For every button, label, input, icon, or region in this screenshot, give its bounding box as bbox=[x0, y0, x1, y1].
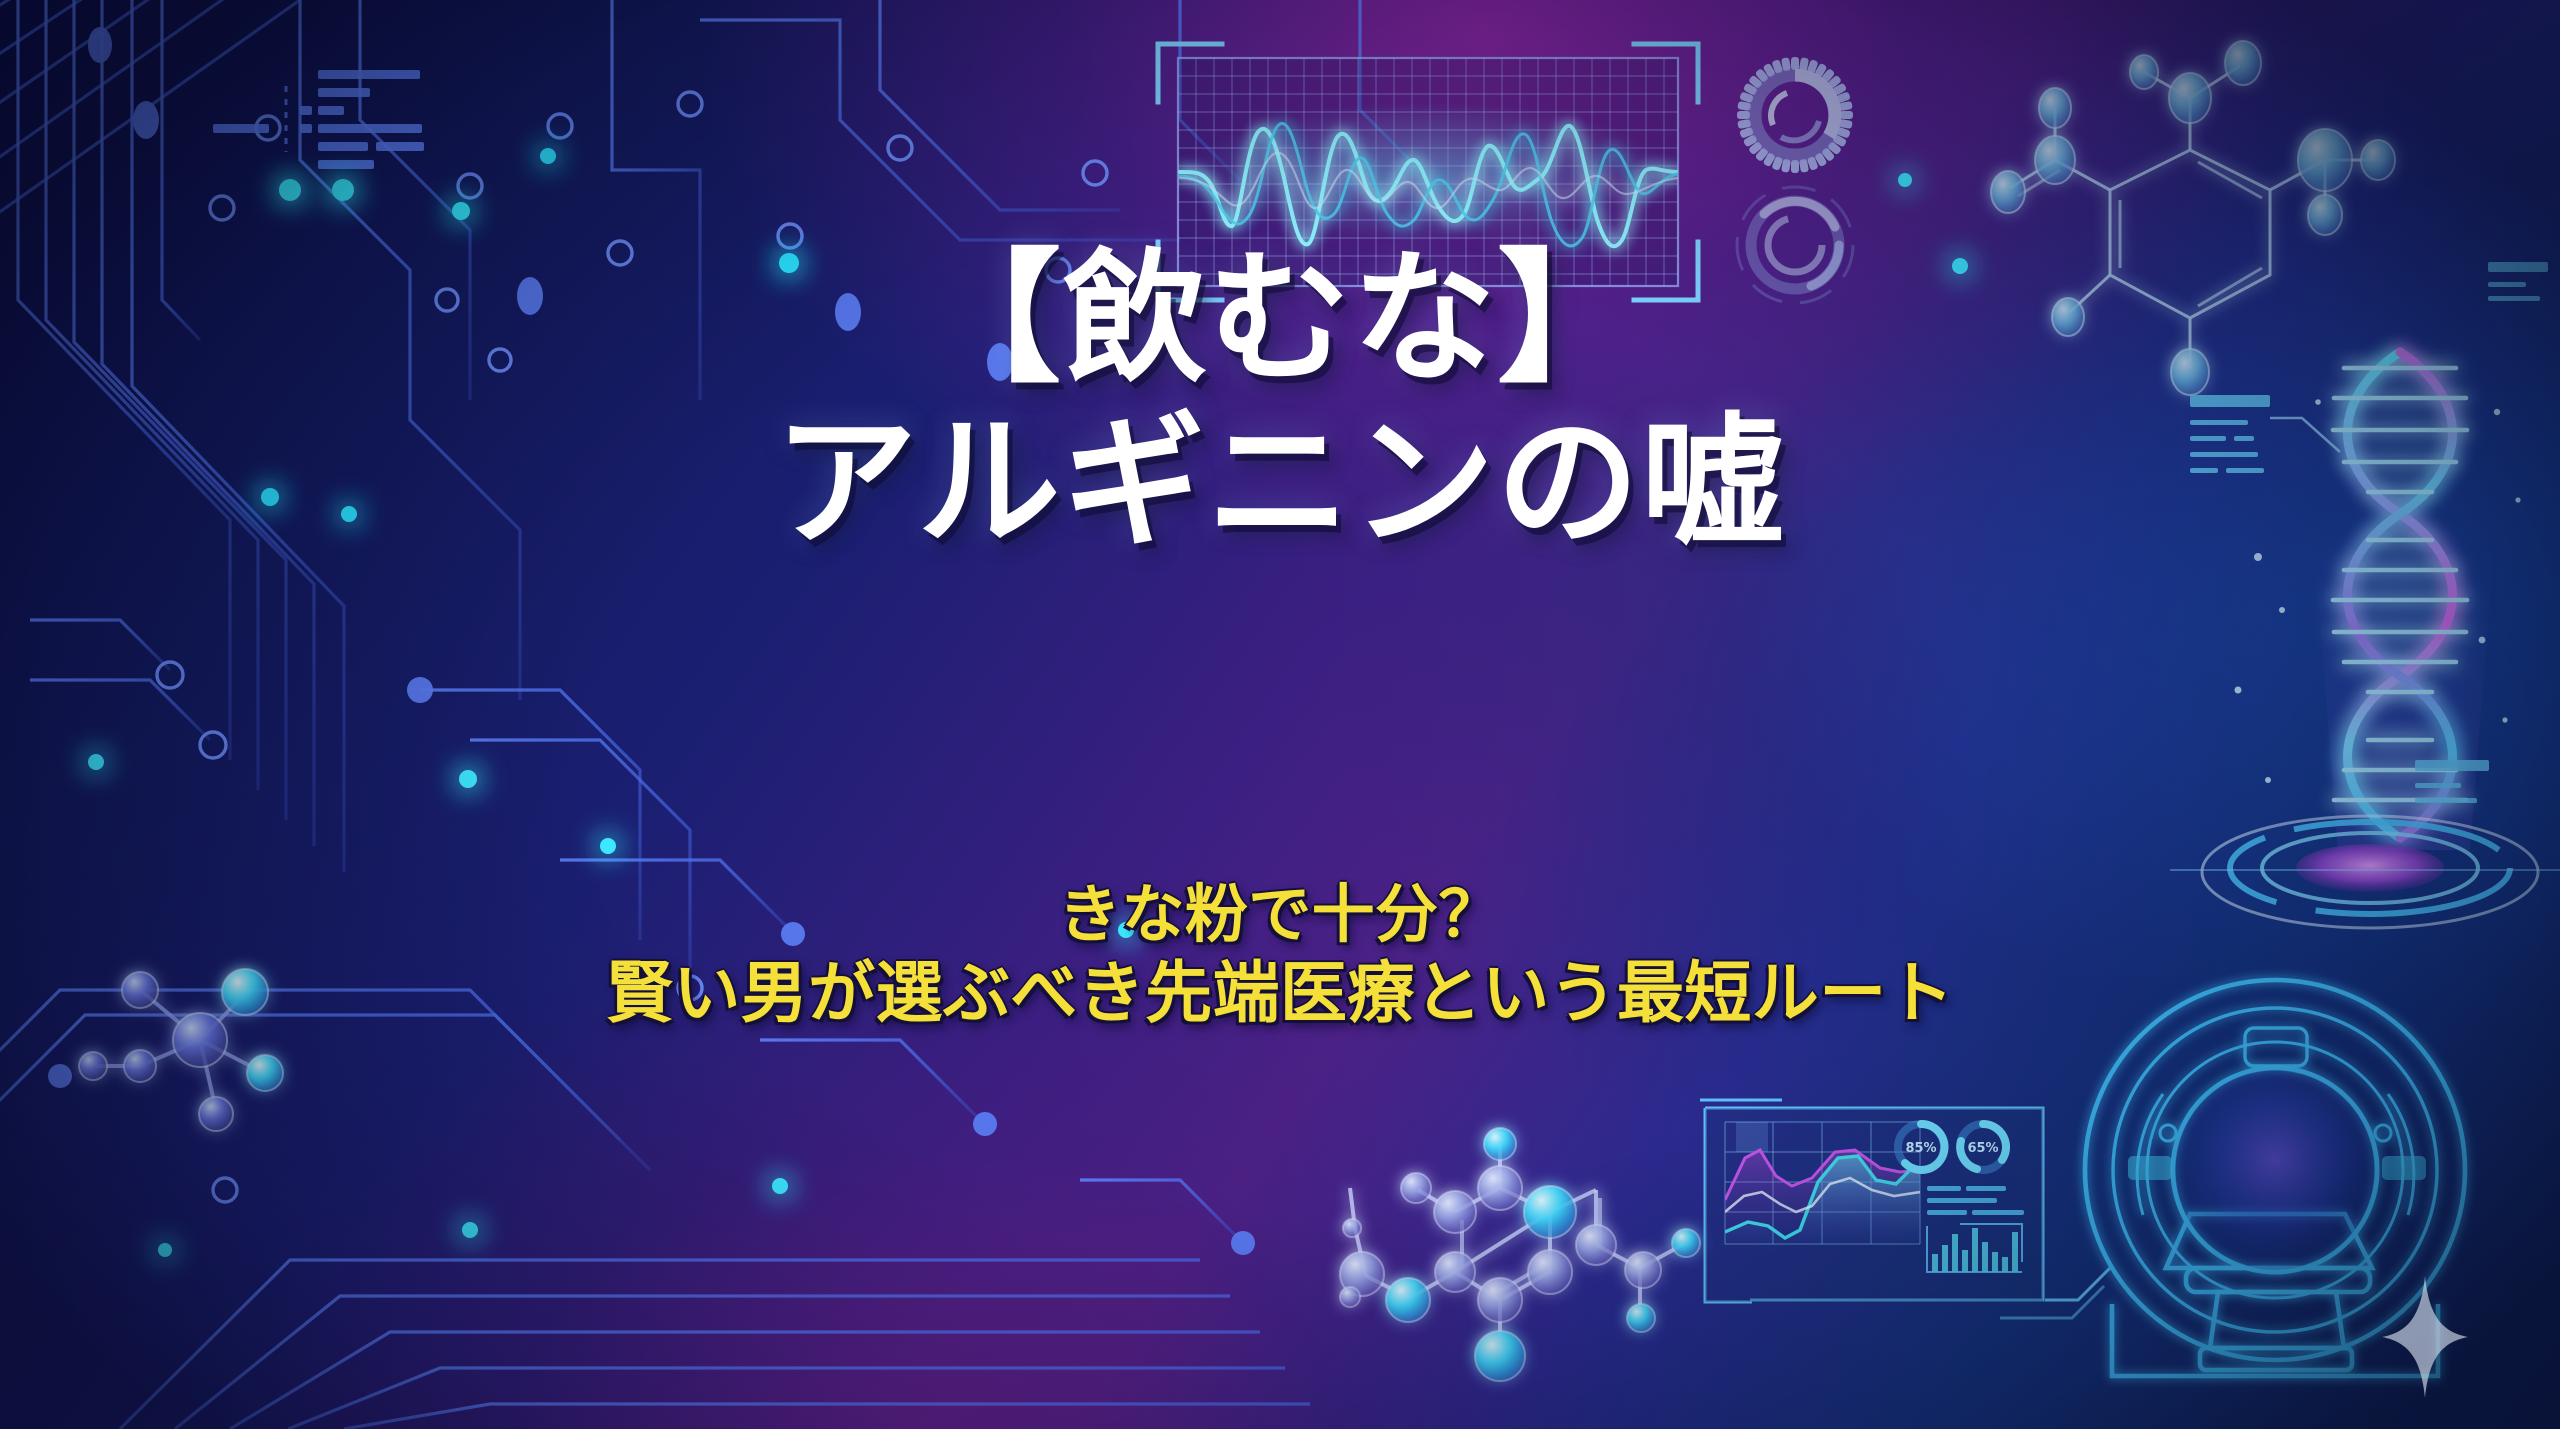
subtitle-line-1: きな粉で十分？ bbox=[0, 882, 2560, 948]
subtitle-block: きな粉で十分？ 賢い男が選ぶべき先端医療という最短ルート bbox=[0, 882, 2560, 1028]
title-block: 【飲むな】 アルギニンの嘘 bbox=[0, 246, 2560, 556]
title-line-2: アルギニンの嘘 bbox=[0, 410, 2560, 556]
four-point-sparkle-icon bbox=[2382, 1276, 2468, 1398]
mri-ct-scanner-outline bbox=[0, 0, 2560, 1429]
title-line-1: 【飲むな】 bbox=[0, 246, 2560, 392]
subtitle-line-2: 賢い男が選ぶべき先端医療という最短ルート bbox=[0, 958, 2560, 1028]
poster-canvas: 85% 65% bbox=[0, 0, 2560, 1429]
